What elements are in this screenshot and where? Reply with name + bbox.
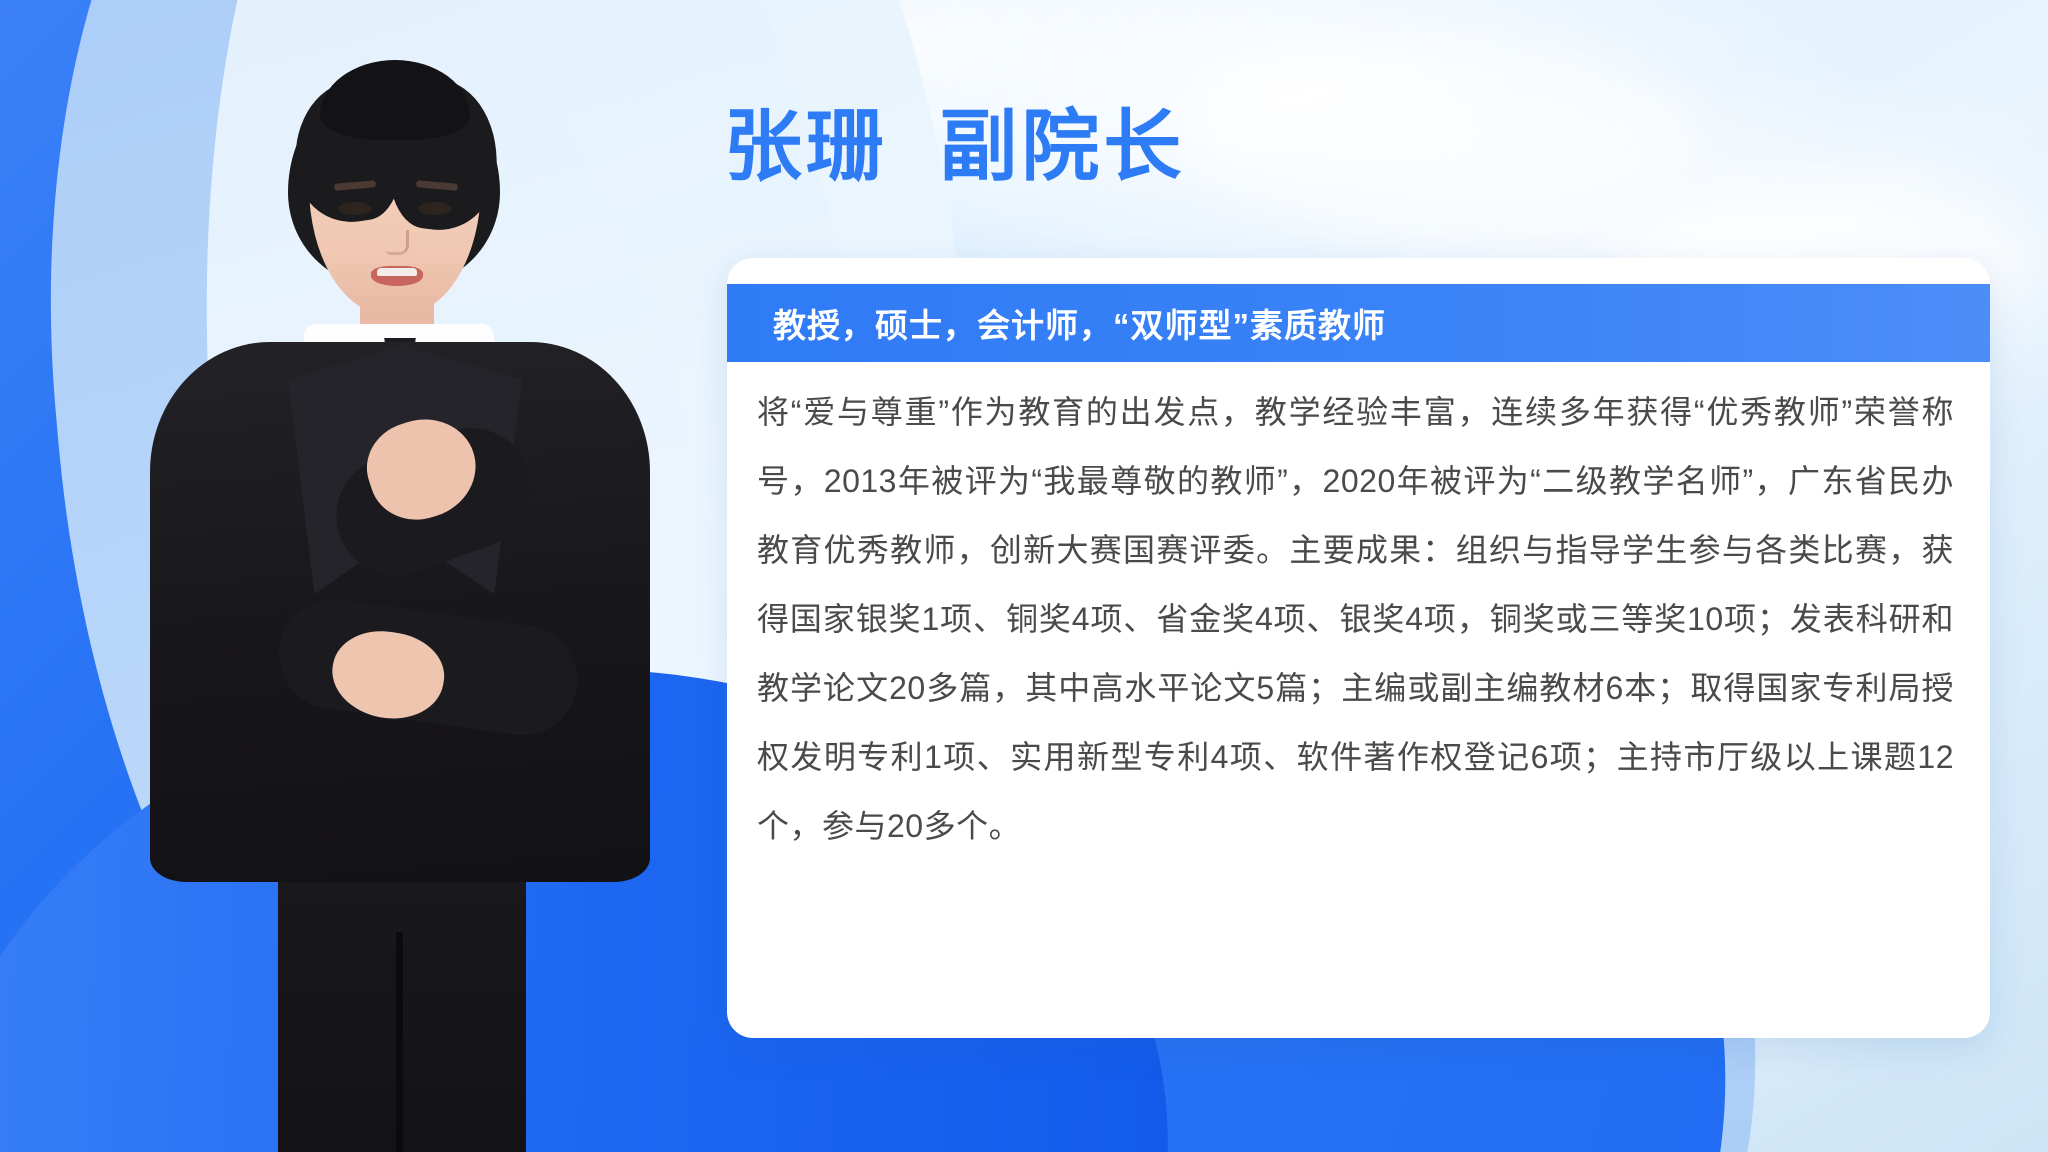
portrait-eye-right bbox=[418, 202, 452, 215]
cloud-shape bbox=[1180, 40, 1700, 230]
profile-card: 教授，硕士，会计师，“双师型”素质教师 将“爱与尊重”作为教育的出发点，教学经验… bbox=[727, 258, 1990, 1038]
slide-canvas: 张珊 副院长 教授，硕士，会计师，“双师型”素质教师 将“爱与尊重”作为教育的出… bbox=[0, 0, 2048, 1152]
biography-text: 将“爱与尊重”作为教育的出发点，教学经验丰富，连续多年获得“优秀教师”荣誉称号，… bbox=[757, 378, 1954, 861]
portrait-teeth bbox=[377, 268, 417, 276]
card-header-title: 教授，硕士，会计师，“双师型”素质教师 bbox=[727, 299, 1386, 347]
card-body: 将“爱与尊重”作为教育的出发点，教学经验丰富，连续多年获得“优秀教师”荣誉称号，… bbox=[727, 378, 1990, 861]
card-header-bar: 教授，硕士，会计师，“双师型”素质教师 bbox=[727, 284, 1990, 362]
portrait-eye-left bbox=[338, 202, 372, 215]
portrait-photo bbox=[128, 52, 668, 1152]
portrait-trouser-seam bbox=[396, 932, 403, 1152]
portrait-hair-top bbox=[320, 60, 470, 140]
portrait-nose bbox=[386, 230, 409, 255]
page-title: 张珊 副院长 bbox=[724, 104, 1185, 190]
